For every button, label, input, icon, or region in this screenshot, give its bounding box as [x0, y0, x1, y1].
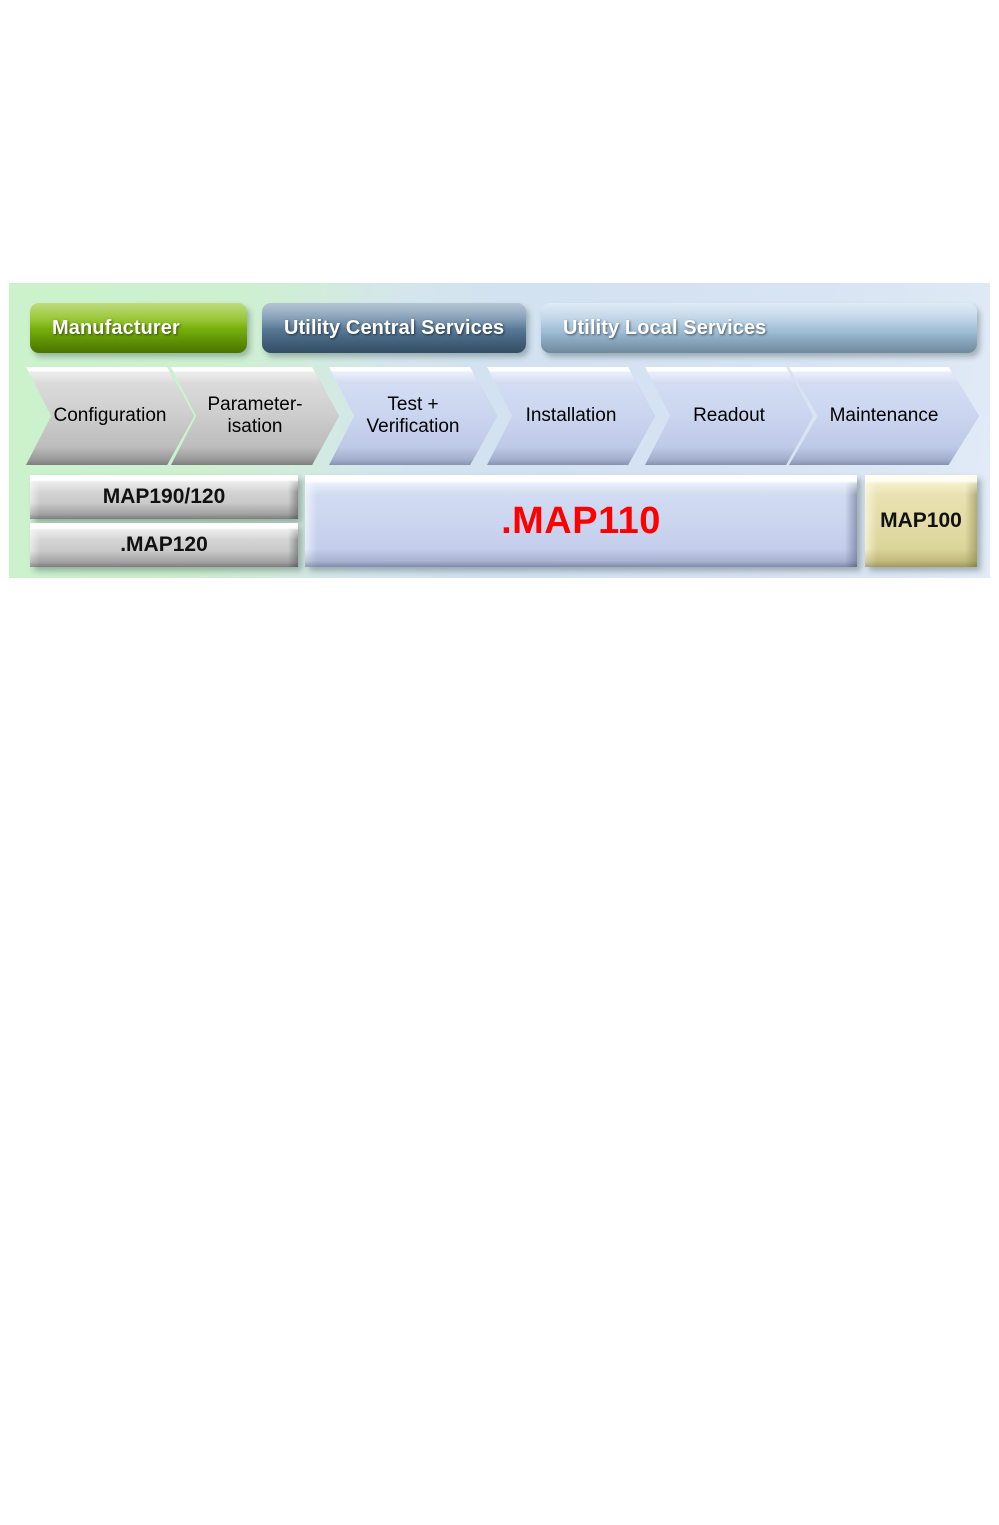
stage-chevron-parameterisation[interactable]: Parameter- isation [171, 367, 339, 465]
stage-chevron-test-verification-label: Test + Verification [361, 394, 466, 438]
stage-chevron-configuration-label: Configuration [47, 405, 172, 427]
product-box-map190-120[interactable]: MAP190/120 [30, 475, 298, 519]
product-box-map100-label: MAP100 [880, 509, 962, 533]
product-box-map120-label: .MAP120 [120, 533, 208, 557]
stage-chevron-configuration[interactable]: Configuration [26, 367, 194, 465]
header-bar-utility-local-services-label: Utility Local Services [541, 317, 766, 340]
process-diagram-panel: Manufacturer Utility Central Services Ut… [9, 283, 990, 578]
header-bar-utility-central-services-label: Utility Central Services [262, 317, 504, 340]
product-box-map110-label: .MAP110 [501, 500, 661, 543]
stage-chevron-readout[interactable]: Readout [645, 367, 813, 465]
product-box-map190-120-label: MAP190/120 [103, 485, 226, 509]
responsibility-header-row: Manufacturer Utility Central Services Ut… [9, 283, 990, 357]
product-row: MAP190/120 .MAP120 .MAP110 MAP100 [9, 473, 990, 573]
product-box-map110[interactable]: .MAP110 [305, 475, 857, 567]
stage-chevron-maintenance[interactable]: Maintenance [789, 367, 979, 465]
header-bar-manufacturer-label: Manufacturer [30, 317, 180, 340]
process-stage-row: Configuration Parameter- isation Test + … [9, 367, 990, 467]
product-box-map100[interactable]: MAP100 [865, 475, 977, 567]
stage-chevron-readout-label: Readout [687, 405, 771, 427]
stage-chevron-installation-label: Installation [520, 405, 623, 427]
header-bar-utility-central-services[interactable]: Utility Central Services [262, 303, 526, 353]
header-bar-manufacturer[interactable]: Manufacturer [30, 303, 247, 353]
product-box-map120[interactable]: .MAP120 [30, 523, 298, 567]
stage-chevron-installation[interactable]: Installation [487, 367, 655, 465]
header-bar-utility-local-services[interactable]: Utility Local Services [541, 303, 977, 353]
stage-chevron-parameterisation-label: Parameter- isation [201, 394, 308, 438]
stage-chevron-test-verification[interactable]: Test + Verification [329, 367, 497, 465]
stage-chevron-maintenance-label: Maintenance [824, 405, 945, 427]
